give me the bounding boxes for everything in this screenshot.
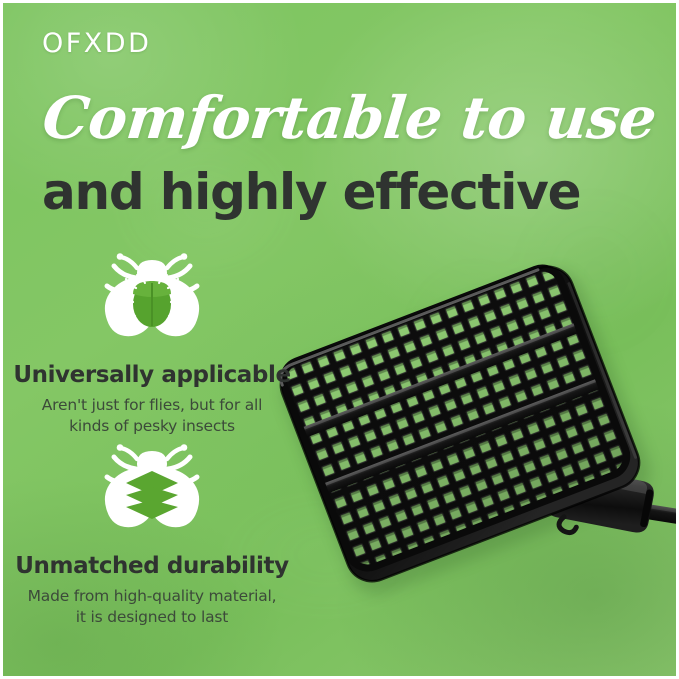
feature-title: Unmatched durability xyxy=(2,553,302,579)
feature-description: Aren't just for flies, but for all kinds… xyxy=(2,395,302,436)
headline-script-line: Comfortable to use xyxy=(40,89,659,147)
feature-title: Universally applicable xyxy=(2,362,302,388)
feature-description: Made from high-quality material, it is d… xyxy=(2,586,302,627)
fly-with-beetle-icon xyxy=(96,252,208,356)
feature-unmatched-durability: Unmatched durability Made from high-qual… xyxy=(2,443,302,627)
feature-universally-applicable: Universally applicable Aren't just for f… xyxy=(2,252,302,436)
brand-logo: OFXDD xyxy=(42,28,151,59)
fly-with-layers-icon xyxy=(96,443,208,547)
headline-bold-line: and highly effective xyxy=(42,167,580,217)
product-marketing-image: OFXDD Comfortable to use and highly effe… xyxy=(0,0,679,679)
